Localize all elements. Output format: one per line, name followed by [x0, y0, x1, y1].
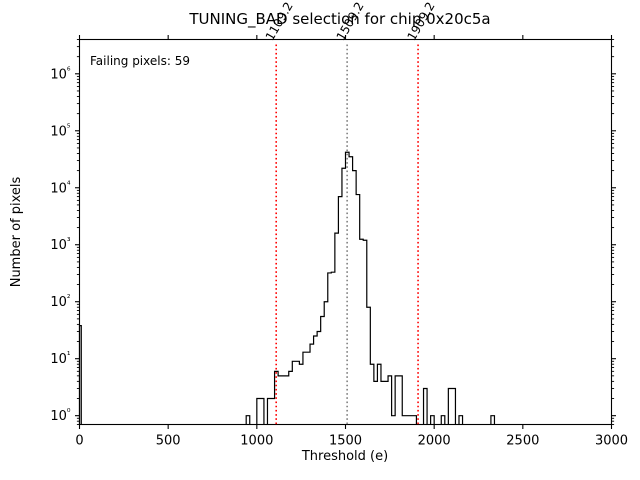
y-axis-label: Number of pixels	[9, 176, 24, 287]
histogram-figure: TUNING_BAD selection for chip 0x20c5a 10…	[0, 0, 640, 480]
x-tick-label: 1000	[240, 434, 273, 449]
histogram-plot: TUNING_BAD selection for chip 0x20c5a 10…	[0, 0, 640, 480]
x-tick-label: 500	[156, 434, 181, 449]
x-tick-label: 2000	[418, 434, 451, 449]
x-tick-label: 2500	[506, 434, 539, 449]
x-tick-label: 0	[75, 434, 83, 449]
figure-background	[0, 0, 640, 480]
failing-pixels-annotation: Failing pixels: 59	[90, 54, 190, 68]
x-tick-label: 1500	[329, 434, 362, 449]
x-tick-label: 3000	[595, 434, 628, 449]
x-axis-label: Threshold (e)	[301, 449, 388, 464]
